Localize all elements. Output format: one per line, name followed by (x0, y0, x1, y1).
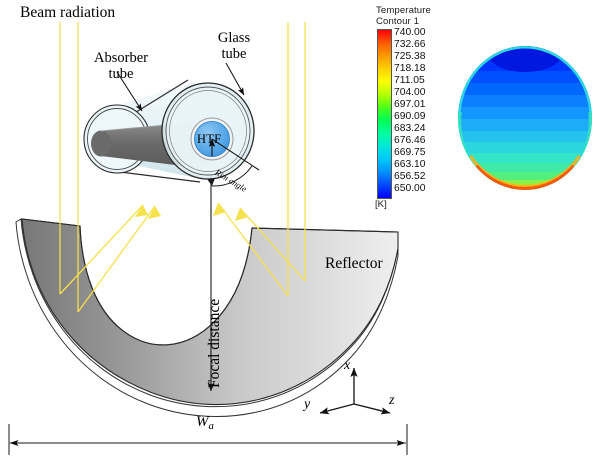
absorber-tube-far-cap (91, 131, 111, 157)
colorbar-tick-4: 711.05 (394, 75, 425, 86)
colorbar-tick-12: 656.52 (394, 171, 426, 182)
colorbar-tick-10: 669.75 (394, 147, 426, 158)
axis-label-y: y (304, 397, 310, 413)
colorbar-tick-3: 718.18 (394, 63, 426, 74)
colorbar-tick-13: 650.00 (394, 183, 426, 194)
absorber-tube-label-line1: Absorber (83, 50, 159, 66)
colorbar-tick-1: 732.66 (394, 39, 426, 50)
reflected-ray-2 (78, 206, 155, 312)
colorbar-tick-5: 704.00 (394, 87, 426, 98)
aperture-width-symbol: W (196, 414, 209, 430)
colorbar-tick-0: 740.00 (394, 27, 426, 38)
htf-label: HTF (197, 132, 221, 146)
colorbar-tick-9: 676.46 (394, 135, 426, 146)
colorbar-tick-7: 690.09 (394, 111, 426, 122)
colorbar-strip (377, 29, 392, 199)
axis-z-arrow (354, 404, 390, 413)
axis-label-z: z (389, 393, 394, 409)
absorber-tube-label: Absorber tube (83, 50, 159, 82)
colorbar-tick-8: 683.24 (394, 123, 426, 134)
sphere-contour-bands (455, 38, 597, 196)
legend-title-block: Temperature Contour 1 (376, 6, 431, 27)
reflector-label: Reflector (325, 255, 383, 272)
axis-y-arrow (320, 404, 354, 413)
legend-title-line2: Contour 1 (376, 17, 431, 28)
figure-canvas: Temperature Contour 1 740.00732.66725.38… (0, 0, 608, 468)
colorbar-tick-6: 697.01 (394, 99, 426, 110)
glass-tube-label-line2: tube (205, 46, 263, 62)
colorbar-tick-11: 663.10 (394, 159, 426, 170)
legend-unit-label: [K] (375, 199, 387, 210)
focal-distance-label: Focal distance (206, 299, 223, 388)
beam-radiation-label: Beam radiation (20, 4, 115, 21)
aperture-width-subscript: a (209, 420, 214, 432)
ray-arrowheads (135, 203, 248, 221)
glass-tube-label-line1: Glass (205, 30, 263, 46)
temperature-contour-sphere (455, 38, 597, 196)
aperture-width-label: Wa (196, 414, 214, 432)
receiver-tube-assembly (84, 80, 259, 186)
axis-label-x: x (344, 358, 350, 374)
colorbar-tick-2: 725.38 (394, 51, 426, 62)
glass-tube-label: Glass tube (205, 30, 263, 62)
absorber-tube-label-line2: tube (83, 66, 159, 82)
colorbar-tick-labels: 740.00732.66725.38718.18711.05704.00697.… (394, 29, 454, 197)
